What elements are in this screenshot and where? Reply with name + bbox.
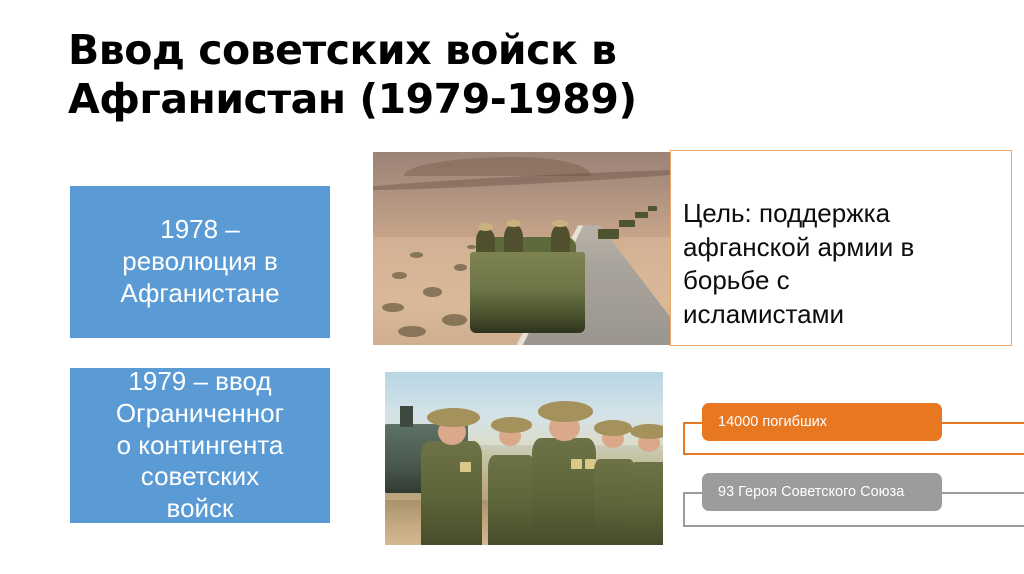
convoy-vehicle-distant [619,220,635,228]
statistics-group: 14000 погибших 93 Героя Советского Союза [670,385,1024,555]
scrub-bush [392,272,408,280]
desert-hills [373,152,685,237]
scrub-bush [442,314,467,326]
heroes-connector-vertical [683,492,685,527]
heroes-label-text: 93 Героя Советского Союза [718,484,904,500]
armoured-personnel-carrier [470,252,585,333]
soldiers-photo [385,372,663,545]
casualties-connector-vertical [683,422,685,455]
medal [571,459,582,469]
presentation-slide: Ввод советских войск в Афганистан (1979-… [0,0,1024,574]
scrub-bush [410,252,422,258]
deployment-box: 1979 – ввод Ограниченног о контингента с… [70,368,330,523]
revolution-box: 1978 – революция в Афганистане [70,186,330,338]
ridge-shape [404,157,591,176]
soldier [630,462,663,545]
purpose-callout: Цель: поддержка афганской армии в борьбе… [670,150,1012,346]
casualties-connector-right [940,422,1024,424]
convoy-vehicle-distant [598,229,620,239]
purpose-callout-text: Цель: поддержка афганской армии в борьбе… [683,198,914,329]
scrub-bush [454,264,466,271]
medal [460,462,471,472]
panama-hat [594,420,633,436]
soldier-hat [552,220,568,228]
overflow-mask-bottom [60,523,350,574]
page-title: Ввод советских войск в Афганистан (1979-… [68,26,768,124]
convoy-photo [373,152,685,345]
convoy-vehicle-distant [648,206,657,211]
scrub-bush [467,245,476,250]
casualties-connector-bottom [683,453,1024,455]
soldier [532,438,596,545]
heroes-connector-right [940,492,1024,494]
scrub-bush [423,287,442,297]
convoy-vehicle-distant [635,212,647,218]
overflow-mask-top [60,340,350,368]
panama-hat [491,417,533,433]
deployment-box-text: 1979 – ввод Ограниченног о контингента с… [70,366,330,525]
scrub-bush [398,326,426,338]
casualties-label-text: 14000 погибших [718,414,827,430]
casualties-label: 14000 погибших [702,403,942,441]
heroes-label: 93 Героя Советского Союза [702,473,942,511]
soldier [488,455,535,545]
scrub-bush [382,303,404,313]
soldier [594,459,636,546]
soldier [421,441,482,545]
revolution-box-text: 1978 – революция в Афганистане [120,214,279,309]
heroes-connector-bottom [683,525,1024,527]
